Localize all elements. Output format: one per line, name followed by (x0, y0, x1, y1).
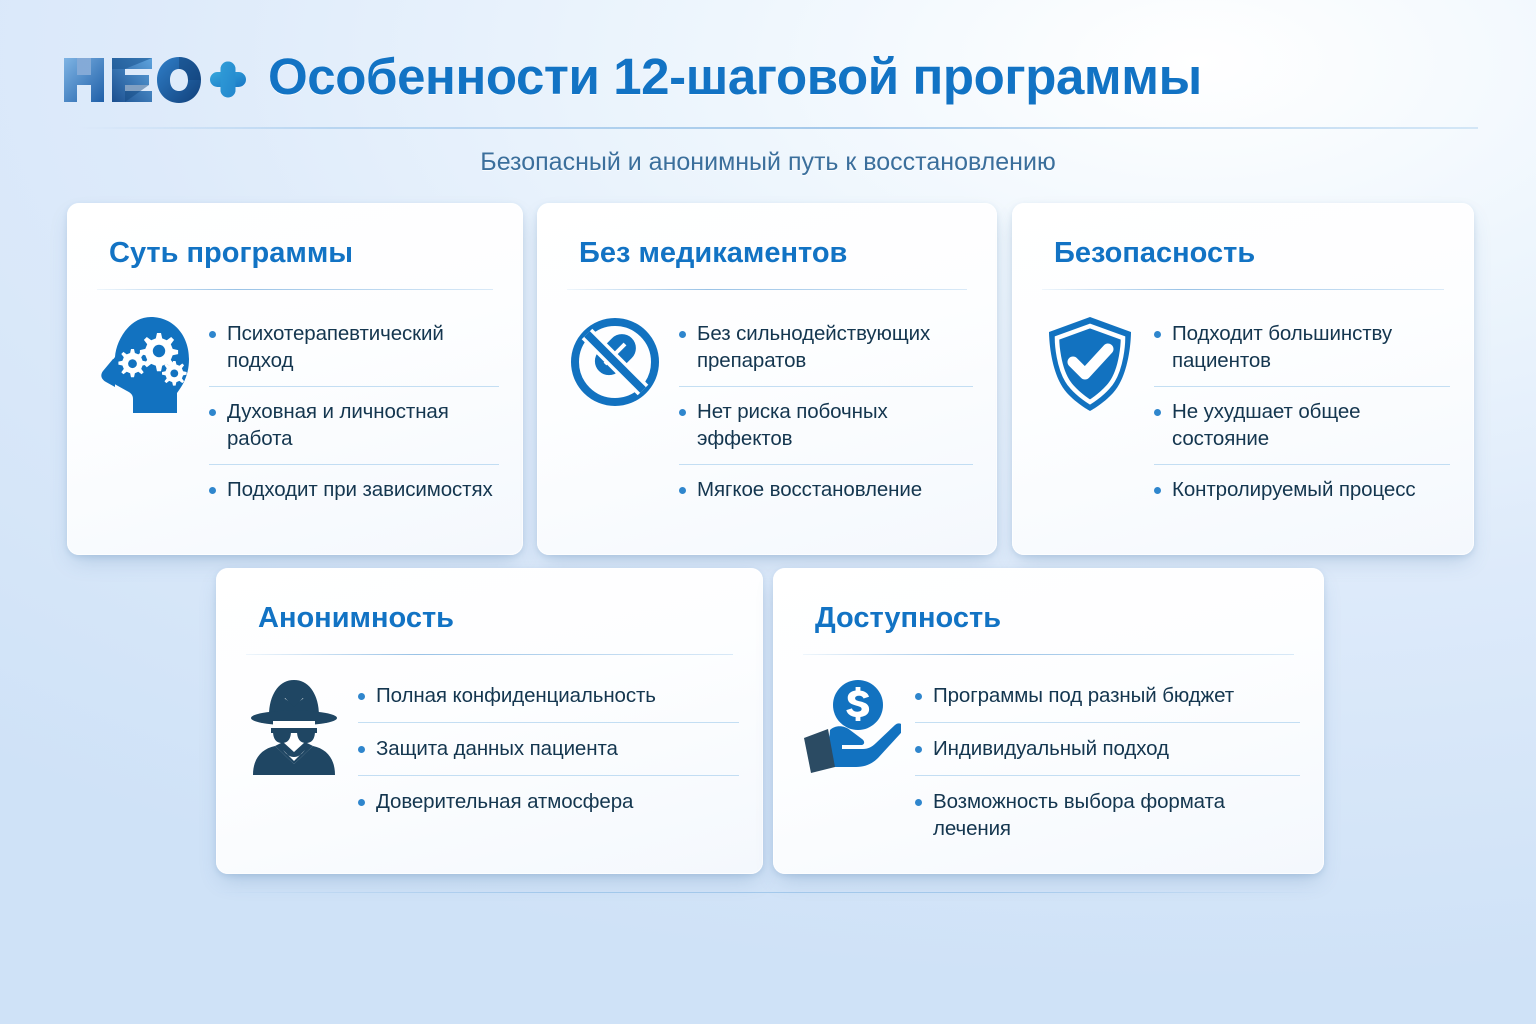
footer-divider (215, 892, 1325, 893)
bullet-text: Мягкое восстановление (697, 476, 922, 503)
bullet-dot-icon (915, 693, 922, 700)
bullet-dot-icon (679, 331, 686, 338)
list-item: Подходит большинству пациентов (1154, 309, 1450, 387)
card-title-divider (246, 654, 733, 655)
feature-card-anonimnost: Анонимность (216, 568, 763, 874)
bullet-dot-icon (209, 409, 216, 416)
neo-plus-logo (62, 52, 247, 108)
card-title-divider (1042, 289, 1444, 290)
bullet-dot-icon (358, 746, 365, 753)
shield-check-icon (1038, 307, 1142, 413)
feature-card-bezopasnost: Безопасность Подходит большинству пациен… (1012, 203, 1474, 555)
bullet-dot-icon (1154, 487, 1161, 494)
list-item: Полная конфиденциальность (358, 670, 739, 723)
card-title-divider (97, 289, 493, 290)
bullet-text: Подходит при зависимостях (227, 476, 493, 503)
header-divider (78, 127, 1478, 129)
hand-coin-icon (799, 668, 903, 774)
feature-card-dostupnost: Доступность Программы под разный бюджет (773, 568, 1324, 874)
bullet-text: Психотерапевтический подход (227, 320, 499, 374)
bullet-dot-icon (1154, 331, 1161, 338)
bullet-text: Полная конфиденциальность (376, 682, 656, 709)
card-title: Анонимность (258, 602, 454, 635)
bullet-text: Защита данных пациента (376, 735, 618, 762)
card-title: Без медикаментов (579, 237, 847, 270)
bullet-text: Контролируемый процесс (1172, 476, 1416, 503)
bullet-list: Подходит большинству пациентов Не ухудша… (1154, 307, 1450, 515)
head-gears-icon (93, 307, 197, 415)
bullet-text: Не ухудшает общее состояние (1172, 398, 1450, 452)
list-item: Индивидуальный подход (915, 723, 1300, 776)
bullet-text: Подходит большинству пациентов (1172, 320, 1450, 374)
header: Особенности 12-шаговой программы (0, 0, 1536, 128)
card-title: Доступность (815, 602, 1001, 635)
bullet-text: Доверительная атмосфера (376, 788, 633, 815)
list-item: Не ухудшает общее состояние (1154, 387, 1450, 465)
infographic-canvas: Особенности 12-шаговой программы Безопас… (0, 0, 1536, 1024)
bullet-text: Нет риска побочных эффектов (697, 398, 973, 452)
bullet-dot-icon (358, 799, 365, 806)
bullet-list: Без сильнодействующих препаратов Нет рис… (679, 307, 973, 515)
bullet-dot-icon (209, 487, 216, 494)
list-item: Психотерапевтический подход (209, 309, 499, 387)
bullet-text: Возможность выбора формата лечения (933, 788, 1300, 842)
bullet-list: Программы под разный бюджет Индивидуальн… (915, 668, 1300, 855)
feature-card-bez-medikamentov: Без медикаментов Без сильно (537, 203, 997, 555)
bullet-dot-icon (1154, 409, 1161, 416)
card-title-divider (803, 654, 1294, 655)
card-title: Безопасность (1054, 237, 1255, 270)
bullet-text: Без сильнодействующих препаратов (697, 320, 973, 374)
list-item: Защита данных пациента (358, 723, 739, 776)
bullet-dot-icon (915, 799, 922, 806)
list-item: Доверительная атмосфера (358, 776, 739, 828)
bullet-text: Индивидуальный подход (933, 735, 1169, 762)
spy-incognito-icon (242, 668, 346, 780)
list-item: Контролируемый процесс (1154, 465, 1450, 515)
bullet-dot-icon (209, 331, 216, 338)
list-item: Без сильнодействующих препаратов (679, 309, 973, 387)
bullet-dot-icon (358, 693, 365, 700)
bullet-list: Психотерапевтический подход Духовная и л… (209, 307, 499, 515)
list-item: Возможность выбора формата лечения (915, 776, 1300, 855)
bullet-text: Духовная и личностная работа (227, 398, 499, 452)
card-title-divider (567, 289, 967, 290)
list-item: Подходит при зависимостях (209, 465, 499, 515)
bullet-dot-icon (679, 487, 686, 494)
bullet-list: Полная конфиденциальность Защита данных … (358, 668, 739, 828)
list-item: Нет риска побочных эффектов (679, 387, 973, 465)
no-pills-icon (563, 307, 667, 409)
list-item: Духовная и личностная работа (209, 387, 499, 465)
page-title: Особенности 12-шаговой программы (268, 47, 1202, 106)
bullet-dot-icon (679, 409, 686, 416)
page-subtitle: Безопасный и анонимный путь к восстановл… (0, 148, 1536, 177)
feature-card-sut-programmy: Суть программы (67, 203, 523, 555)
bullet-dot-icon (915, 746, 922, 753)
list-item: Мягкое восстановление (679, 465, 973, 515)
list-item: Программы под разный бюджет (915, 670, 1300, 723)
card-title: Суть программы (109, 237, 353, 270)
bullet-text: Программы под разный бюджет (933, 682, 1234, 709)
